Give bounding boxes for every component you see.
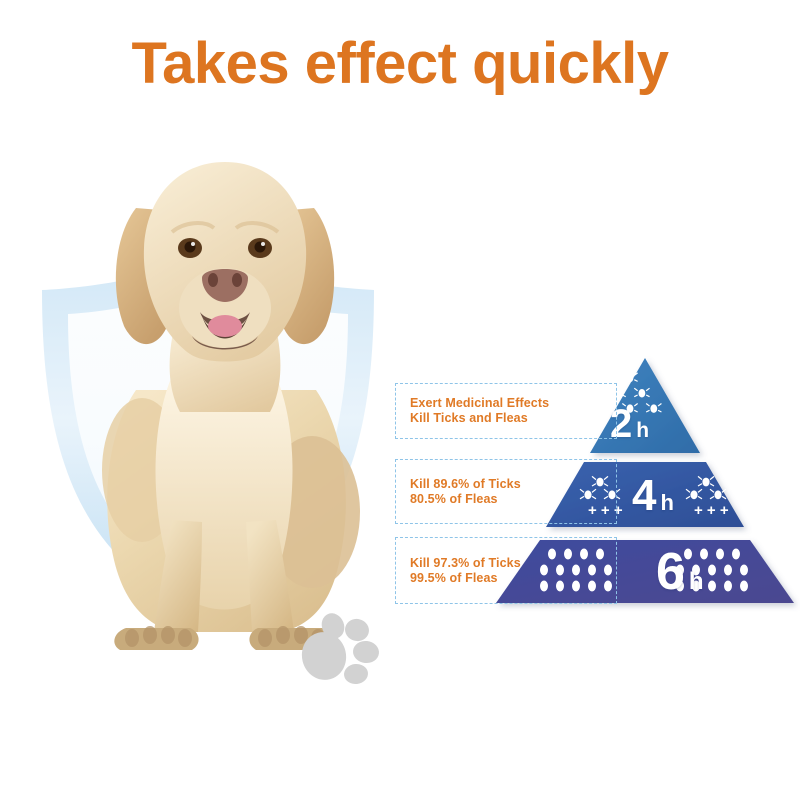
callout-tier-2-line-2: 80.5% of Fleas: [410, 492, 616, 507]
callout-tier-1: Exert Medicinal Effects Kill Ticks and F…: [395, 383, 617, 439]
tier-3-hours: 6: [656, 546, 685, 598]
callout-tier-1-line-2: Kill Ticks and Fleas: [410, 411, 616, 426]
tier-2-unit: h: [660, 492, 673, 514]
pyramid-infographic: + + + + + +: [388, 352, 800, 612]
tier-2-hours: 4: [632, 474, 656, 518]
labrador-dog-photo: [80, 140, 370, 660]
infographic-page: Takes effect quickly: [0, 0, 800, 800]
callout-tier-3-line-2: 99.5% of Fleas: [410, 571, 616, 586]
callout-tier-2-line-1: Kill 89.6% of Ticks: [410, 477, 616, 492]
callout-tier-3-line-1: Kill 97.3% of Ticks: [410, 556, 616, 571]
hero-illustration: [20, 140, 400, 680]
tier-3-unit: h: [689, 570, 704, 594]
page-title: Takes effect quickly: [0, 30, 800, 97]
tier-2-hour-label: 4 h: [632, 474, 674, 518]
tier-3-hour-label: 6 h: [656, 546, 704, 598]
callout-tier-3: Kill 97.3% of Ticks 99.5% of Fleas: [395, 537, 617, 604]
paw-print-icon: [300, 612, 390, 692]
callout-tier-1-line-1: Exert Medicinal Effects: [410, 396, 616, 411]
tier-1-unit: h: [636, 420, 649, 441]
callout-tier-2: Kill 89.6% of Ticks 80.5% of Fleas: [395, 459, 617, 524]
